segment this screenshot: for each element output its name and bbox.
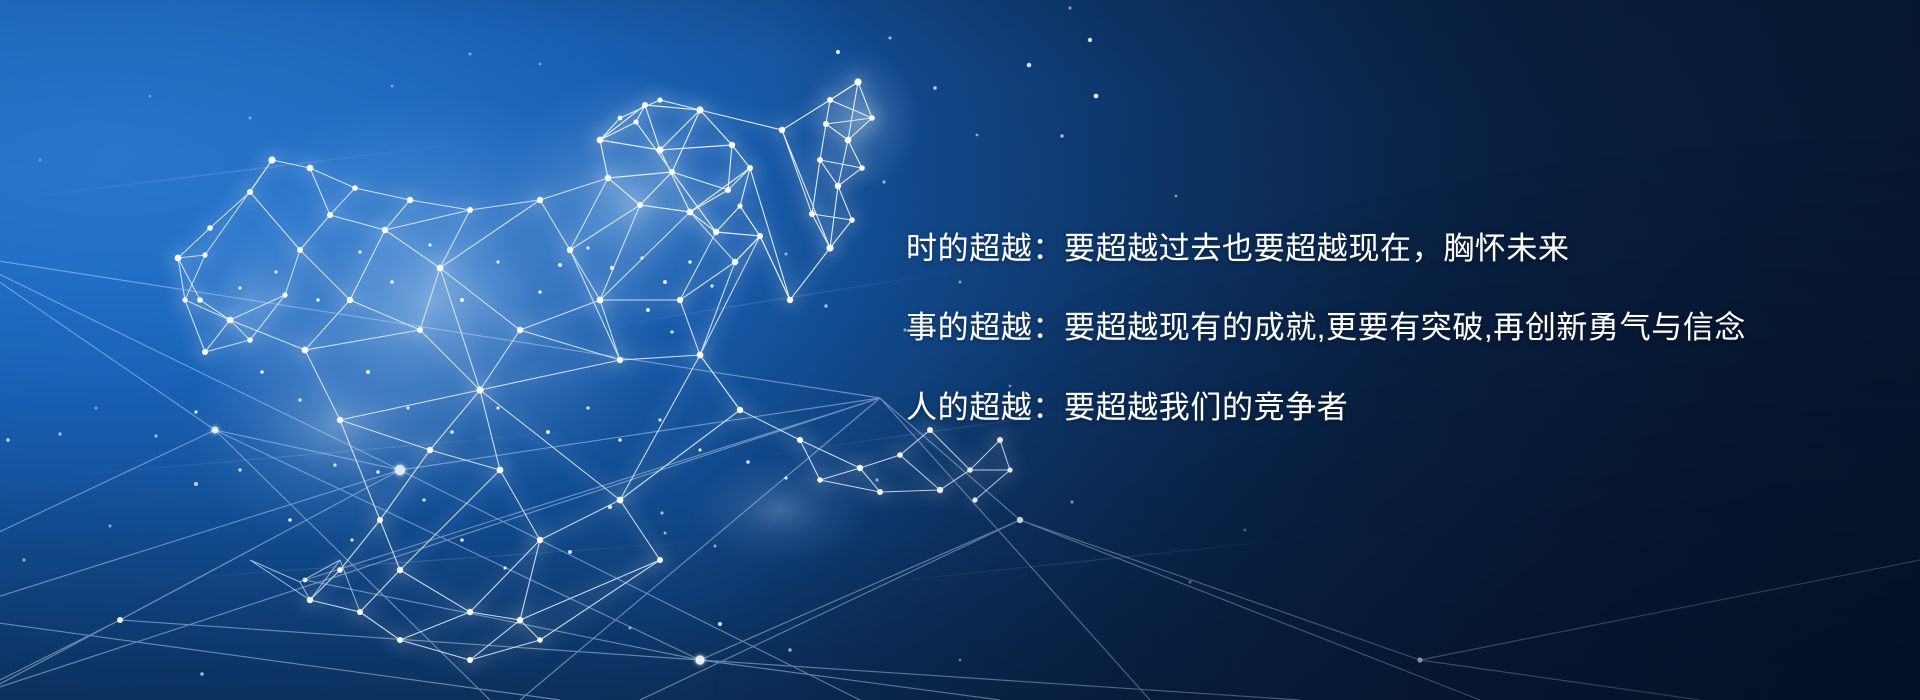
slogan-text-block: 时的超越：要超越过去也要超越现在，胸怀未来 事的超越：要超越现有的成就,更要有突… [906,232,1806,424]
slogan-line-time: 时的超越：要超越过去也要超越现在，胸怀未来 [906,232,1806,265]
slogan-line-people: 人的超越：要超越我们的竞争者 [906,391,1806,424]
hero-banner: 时的超越：要超越过去也要超越现在，胸怀未来 事的超越：要超越现有的成就,更要有突… [0,0,1920,700]
slogan-line-achievement: 事的超越：要超越现有的成就,更要有突破,再创新勇气与信念 [906,311,1806,344]
